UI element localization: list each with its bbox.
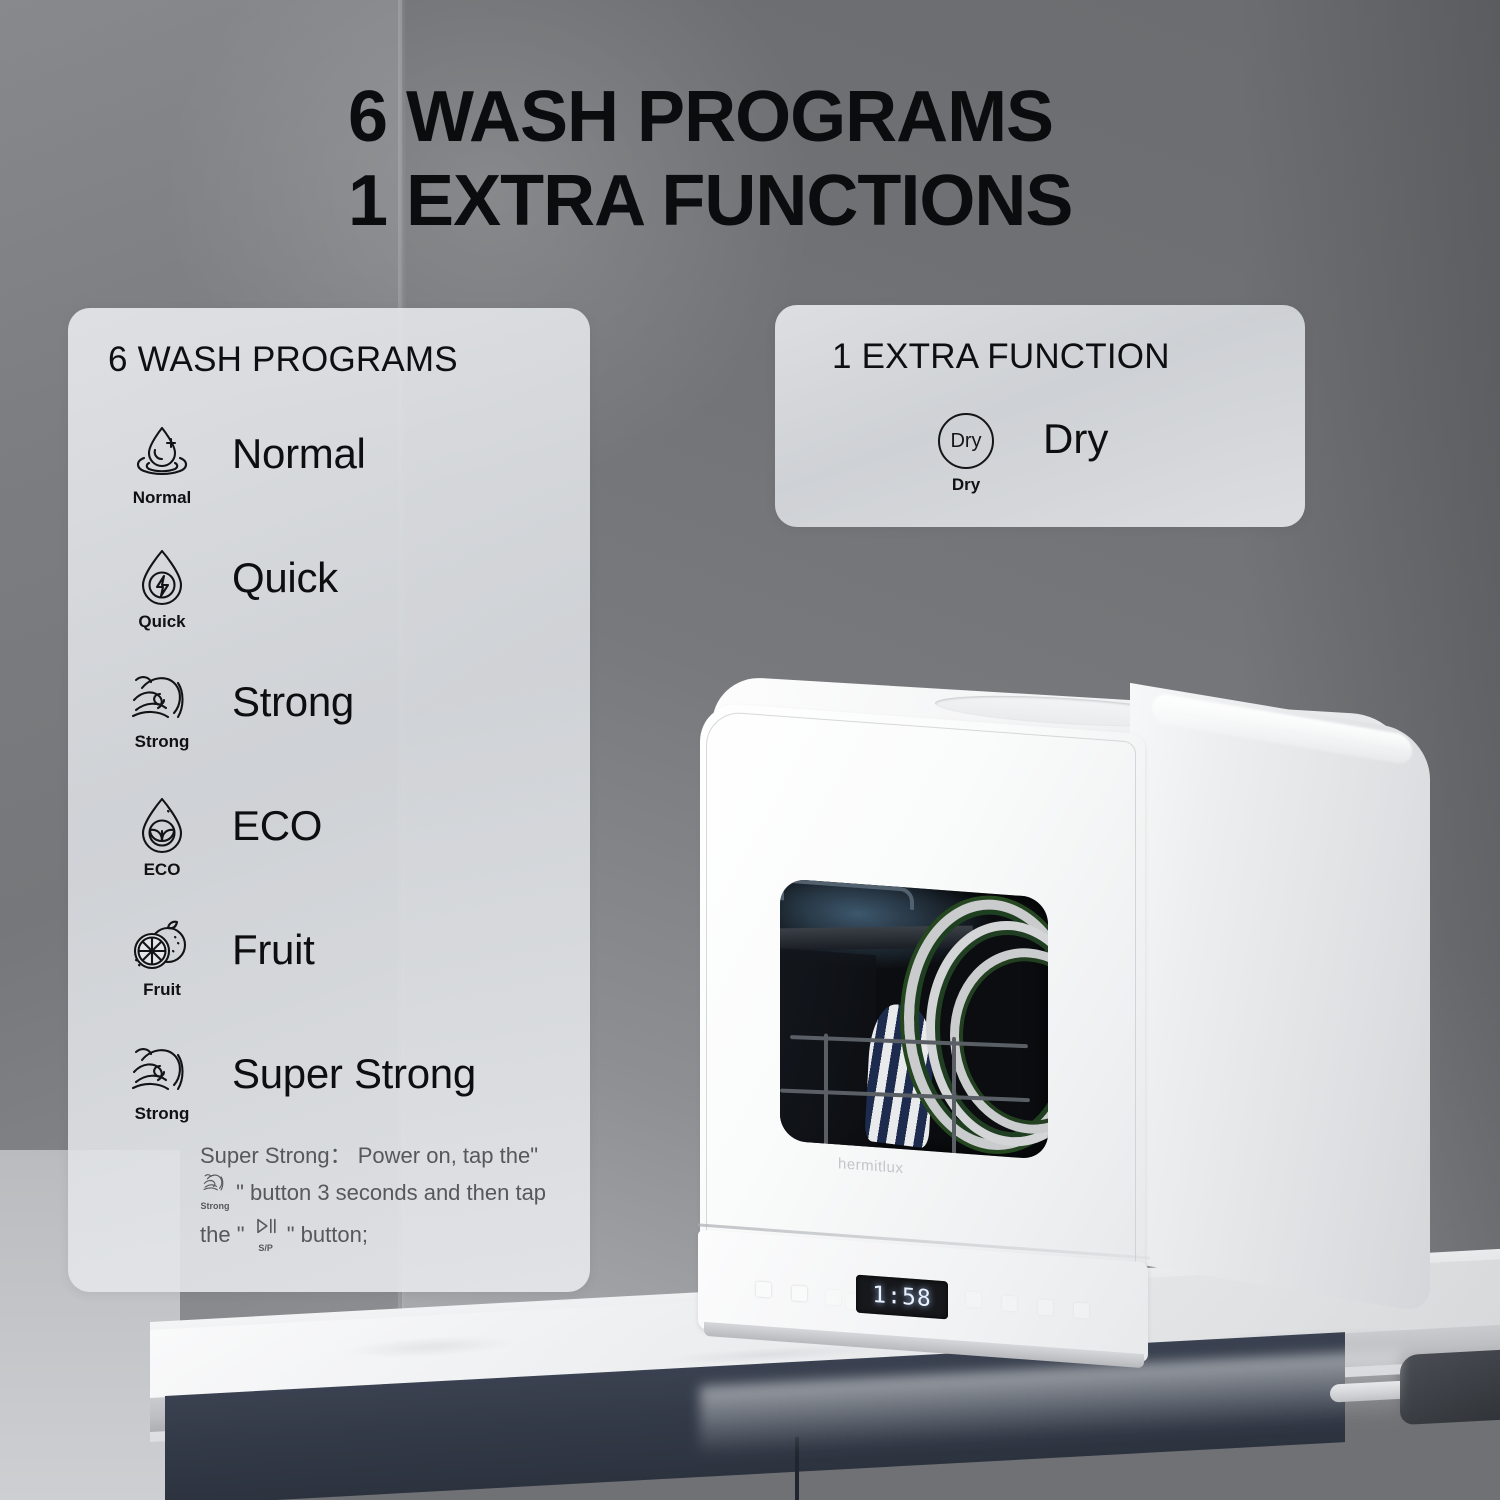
program-row-normal[interactable]: Normal Normal — [104, 416, 574, 540]
dry-circle-icon: Dry — [938, 413, 994, 469]
program-sublabel: Quick — [114, 612, 210, 632]
indicator-light-extra[interactable] — [826, 1289, 841, 1305]
footnote-part-3: " button; — [281, 1222, 368, 1247]
program-name: Normal — [232, 430, 366, 478]
window-dark-interior — [780, 948, 876, 1151]
rack-wire — [952, 1037, 956, 1155]
page-headline: 6 WASH PROGRAMS 1 EXTRA FUNCTIONS — [348, 76, 1248, 243]
program-sublabel: Fruit — [114, 980, 210, 1000]
program-row-fruit[interactable]: Fruit Fruit — [104, 912, 574, 1036]
program-name: Quick — [232, 554, 338, 602]
inline-wave-icon-label: Strong — [200, 1200, 230, 1213]
program-row-eco[interactable]: ECO ECO — [104, 788, 574, 912]
program-icon-wrap: Quick — [114, 546, 210, 632]
rack-wire — [824, 1033, 828, 1145]
program-name: Strong — [232, 678, 354, 726]
program-row-strong[interactable]: Strong Strong — [104, 664, 574, 788]
dishwasher-viewing-window — [780, 878, 1048, 1160]
program-sublabel: Strong — [114, 1104, 210, 1124]
function-icon-wrap: Dry Dry — [923, 413, 1009, 495]
program-name: Fruit — [232, 926, 315, 974]
headline-line-2: 1 EXTRA FUNCTIONS — [348, 160, 1248, 244]
inline-wave-icon: Strong — [200, 1171, 230, 1213]
wash-programs-list: Normal Normal Quick Quick — [104, 416, 574, 1160]
function-name: Dry — [1043, 415, 1108, 463]
footnote-part-1: Super Strong： Power on, tap the" — [200, 1143, 538, 1168]
program-icon-wrap: Strong — [114, 1042, 210, 1124]
countertop-dishwasher: hermitlux 1:58 — [660, 690, 1450, 1370]
headline-line-1: 6 WASH PROGRAMS — [348, 76, 1248, 160]
extra-function-title: 1 EXTRA FUNCTION — [832, 337, 1170, 377]
control-button-start-pause[interactable] — [1074, 1302, 1089, 1318]
wave-icon — [130, 670, 194, 728]
program-name: ECO — [232, 802, 322, 850]
program-name: Super Strong — [232, 1050, 476, 1098]
wave-icon — [130, 1042, 194, 1100]
citrus-fruit-icon — [131, 918, 193, 976]
program-sublabel: Normal — [114, 488, 210, 508]
program-row-quick[interactable]: Quick Quick — [104, 540, 574, 664]
program-icon-wrap: Fruit — [114, 918, 210, 1000]
wash-programs-title: 6 WASH PROGRAMS — [108, 340, 458, 380]
led-display: 1:58 — [856, 1275, 948, 1320]
program-icon-wrap: Strong — [114, 670, 210, 752]
program-sublabel: ECO — [114, 860, 210, 880]
water-drop-ripple-icon — [130, 422, 194, 484]
extra-function-card: 1 EXTRA FUNCTION Dry Dry Dry — [775, 305, 1305, 527]
program-icon-wrap: Normal — [114, 422, 210, 508]
control-button-delay[interactable] — [1038, 1299, 1053, 1315]
indicator-light-salt[interactable] — [792, 1285, 807, 1301]
program-sublabel: Strong — [114, 732, 210, 752]
control-button-mode[interactable] — [1002, 1295, 1017, 1311]
super-strong-instructions: Super Strong： Power on, tap the" Strong … — [200, 1140, 560, 1255]
dishwasher-side-panel — [1130, 683, 1430, 1313]
indicator-light-rinse-aid[interactable] — [756, 1281, 771, 1297]
inline-start-pause-icon-label: S/P — [251, 1242, 281, 1255]
function-sublabel: Dry — [923, 475, 1009, 495]
water-drop-leaf-icon — [133, 794, 191, 856]
water-drop-lightning-icon — [133, 546, 191, 608]
inline-start-pause-icon: S/P — [251, 1213, 281, 1255]
control-button-program[interactable] — [966, 1291, 981, 1307]
display-time-value: 1:58 — [872, 1282, 931, 1312]
program-icon-wrap: ECO — [114, 794, 210, 880]
